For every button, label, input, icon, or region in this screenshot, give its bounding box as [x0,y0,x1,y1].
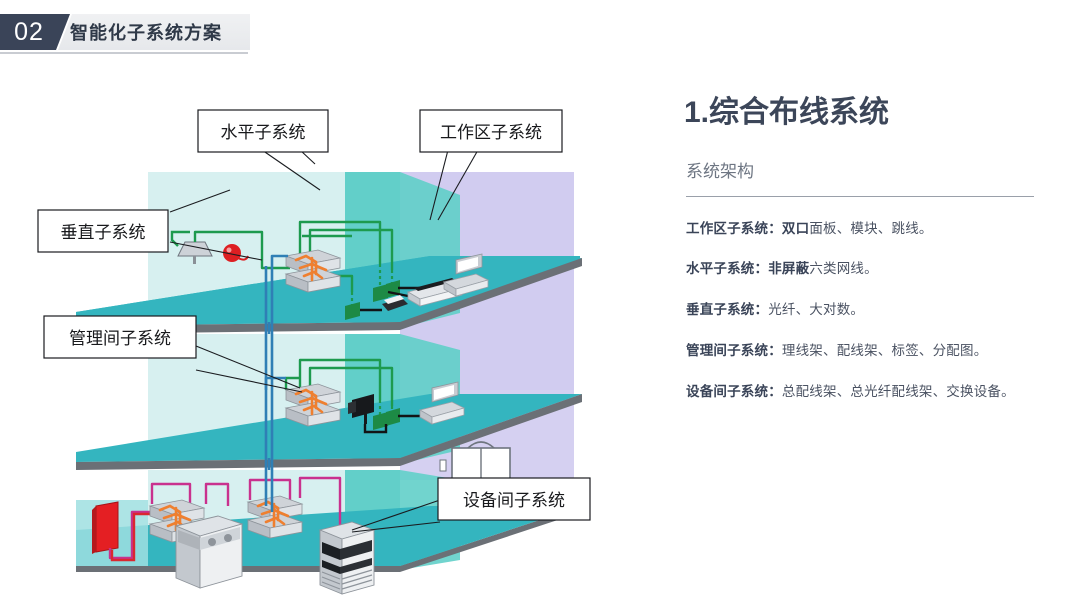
list-item: 垂直子系统：光纤、大对数。 [686,300,1044,321]
page-title: 智能化子系统方案 [70,14,222,50]
callout-equip-room[interactable]: 设备间子系统 [438,478,590,520]
callout-label: 管理间子系统 [69,329,171,348]
list-item-rest: 面板、模块、跳线。 [809,221,932,236]
list-item-rest: 六类网线。 [809,261,878,276]
callout-label: 垂直子系统 [61,223,146,242]
content-panel: 1.综合布线系统 系统架构 工作区子系统：双口面板、模块、跳线。 水平子系统：非… [684,96,1044,423]
list-item-rest: 总配线架、总光纤配线架、交换设备。 [782,384,1015,399]
section-heading: 1.综合布线系统 [684,96,1044,131]
header-underline [0,52,248,54]
fire-panel-icon [92,502,118,554]
slide-header: 02 智能化子系统方案 [0,14,250,50]
list-item: 工作区子系统：双口面板、模块、跳线。 [686,219,1044,240]
callout-label: 水平子系统 [221,123,306,142]
server-rack-icon [320,522,374,594]
list-item-bold: 垂直子系统： [686,302,768,317]
list-item-bold: 设备间子系统： [686,384,782,399]
list-item-bold: 管理间子系统： [686,343,782,358]
list-item-rest: 光纤、大对数。 [768,302,864,317]
callout-work-area[interactable]: 工作区子系统 [420,110,562,152]
list-item: 设备间子系统：总配线架、总光纤配线架、交换设备。 [686,382,1044,403]
callout-vertical[interactable]: 垂直子系统 [38,210,168,252]
subsystem-list: 工作区子系统：双口面板、模块、跳线。 水平子系统：非屏蔽六类网线。 垂直子系统：… [684,219,1044,404]
slide-page: 02 智能化子系统方案 1.综合布线系统 系统架构 工作区子系统：双口面板、模块… [0,0,1080,608]
list-item-bold: 水平子系统：非屏蔽 [686,261,809,276]
callout-label: 设备间子系统 [463,491,565,510]
list-item-rest: 理线架、配线架、标签、分配图。 [782,343,988,358]
list-item: 管理间子系统：理线架、配线架、标签、分配图。 [686,341,1044,362]
section-number: 02 [0,14,70,50]
callout-horizontal[interactable]: 水平子系统 [198,110,328,152]
callout-label: 工作区子系统 [440,123,542,142]
cabling-system-diagram: 水平子系统 工作区子系统 垂直子系统 管理间子系统 设备间子系统 [0,60,676,608]
section-subheading: 系统架构 [686,157,1044,182]
callout-telecom-room[interactable]: 管理间子系统 [44,316,196,358]
list-item: 水平子系统：非屏蔽六类网线。 [686,259,1044,280]
panel-divider [686,196,1034,197]
list-item-bold: 工作区子系统：双口 [686,221,809,236]
